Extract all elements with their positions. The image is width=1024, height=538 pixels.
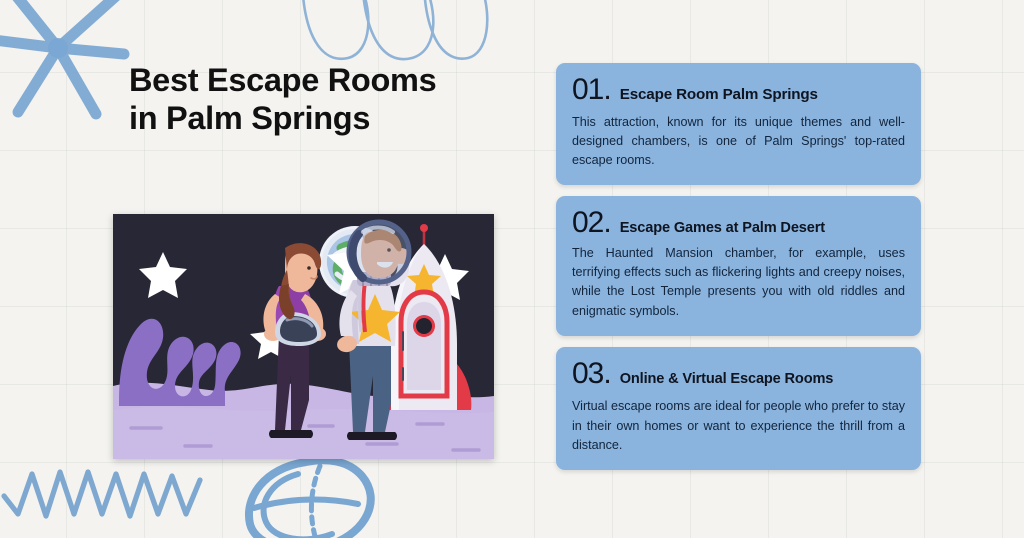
card-header: 03. Online & Virtual Escape Rooms xyxy=(572,360,905,389)
card-number: 02. xyxy=(572,209,611,238)
escape-room-list: 01. Escape Room Palm Springs This attrac… xyxy=(556,63,921,470)
list-item[interactable]: 01. Escape Room Palm Springs This attrac… xyxy=(556,63,921,185)
astronauts-on-planet-illustration xyxy=(113,214,494,459)
card-header: 01. Escape Room Palm Springs xyxy=(572,76,905,105)
list-item[interactable]: 02. Escape Games at Palm Desert The Haun… xyxy=(556,196,921,336)
card-body: This attraction, known for its unique th… xyxy=(572,113,905,171)
card-body: The Haunted Mansion chamber, for example… xyxy=(572,244,905,321)
page-title: Best Escape Rooms in Palm Springs xyxy=(129,62,459,137)
card-number: 03. xyxy=(572,360,611,389)
card-title: Escape Room Palm Springs xyxy=(620,87,818,104)
card-title: Escape Games at Palm Desert xyxy=(620,220,825,236)
card-title: Online & Virtual Escape Rooms xyxy=(620,371,834,387)
card-body: Virtual escape rooms are ideal for peopl… xyxy=(572,397,905,455)
card-header: 02. Escape Games at Palm Desert xyxy=(572,209,905,238)
list-item[interactable]: 03. Online & Virtual Escape Rooms Virtua… xyxy=(556,347,921,470)
card-number: 01. xyxy=(572,76,611,105)
